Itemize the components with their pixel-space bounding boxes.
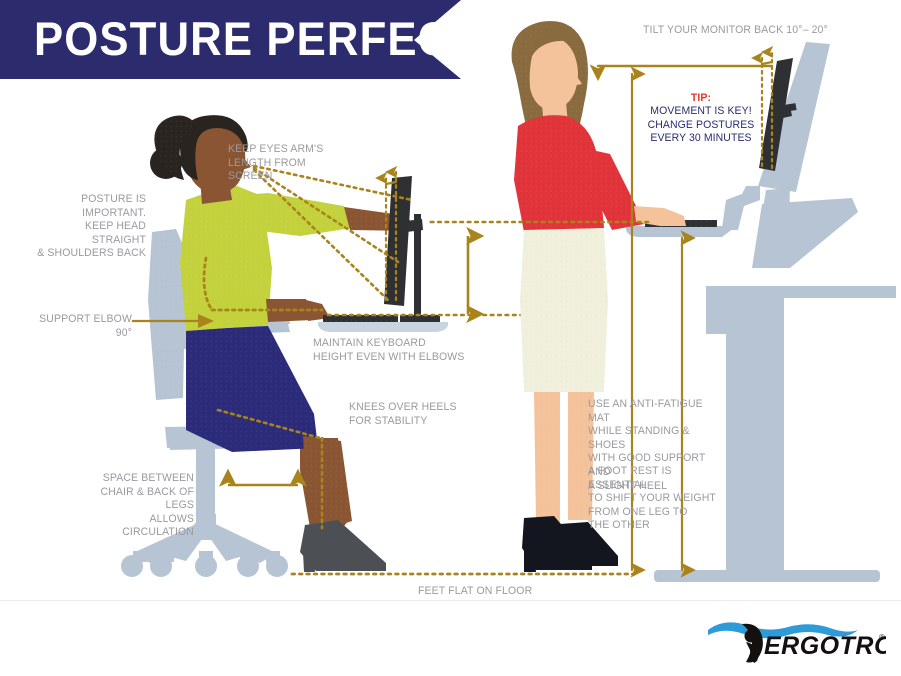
annotation-posture-important: POSTURE IS IMPORTANT. KEEP HEAD STRAIGHT… [28, 193, 146, 261]
footer-divider [0, 600, 901, 601]
page-title: POSTURE PERFECT [34, 8, 478, 70]
infographic-poster: POSTURE PERFECT POSTURE IS IMPORTANT. KE… [0, 0, 901, 676]
annotation-maintain-keyboard-height: MAINTAIN KEYBOARD HEIGHT EVEN WITH ELBOW… [313, 337, 469, 364]
tip-body: MOVEMENT IS KEY! CHANGE POSTURES EVERY 3… [645, 105, 757, 145]
annotation-foot-rest: A FOOT REST IS ESSENTIAL TO SHIFT YOUR W… [588, 465, 726, 533]
annotation-knees-over-heels: KNEES OVER HEELS FOR STABILITY [349, 401, 459, 428]
annotation-space-between-chair: SPACE BETWEEN CHAIR & BACK OF LEGS ALLOW… [82, 472, 194, 540]
monitor-icon [384, 176, 440, 323]
logo-registered-mark: ® [879, 633, 885, 642]
tip-callout: TIP: MOVEMENT IS KEY! CHANGE POSTURES EV… [645, 92, 757, 146]
ergotron-logo-icon: ERGOTRON ® [706, 614, 886, 666]
annotation-support-elbow: SUPPORT ELBOW 90° [25, 313, 132, 340]
annotation-tilt-monitor: TILT YOUR MONITOR BACK 10°– 20° [643, 24, 845, 38]
annotation-keep-eyes-arms-length: KEEP EYES ARM'S LENGTH FROM SCREEN [228, 143, 348, 184]
tip-label: TIP: [645, 92, 757, 105]
logo-wordmark: ERGOTRON [764, 632, 886, 660]
annotation-feet-flat-on-floor: FEET FLAT ON FLOOR [418, 585, 556, 599]
